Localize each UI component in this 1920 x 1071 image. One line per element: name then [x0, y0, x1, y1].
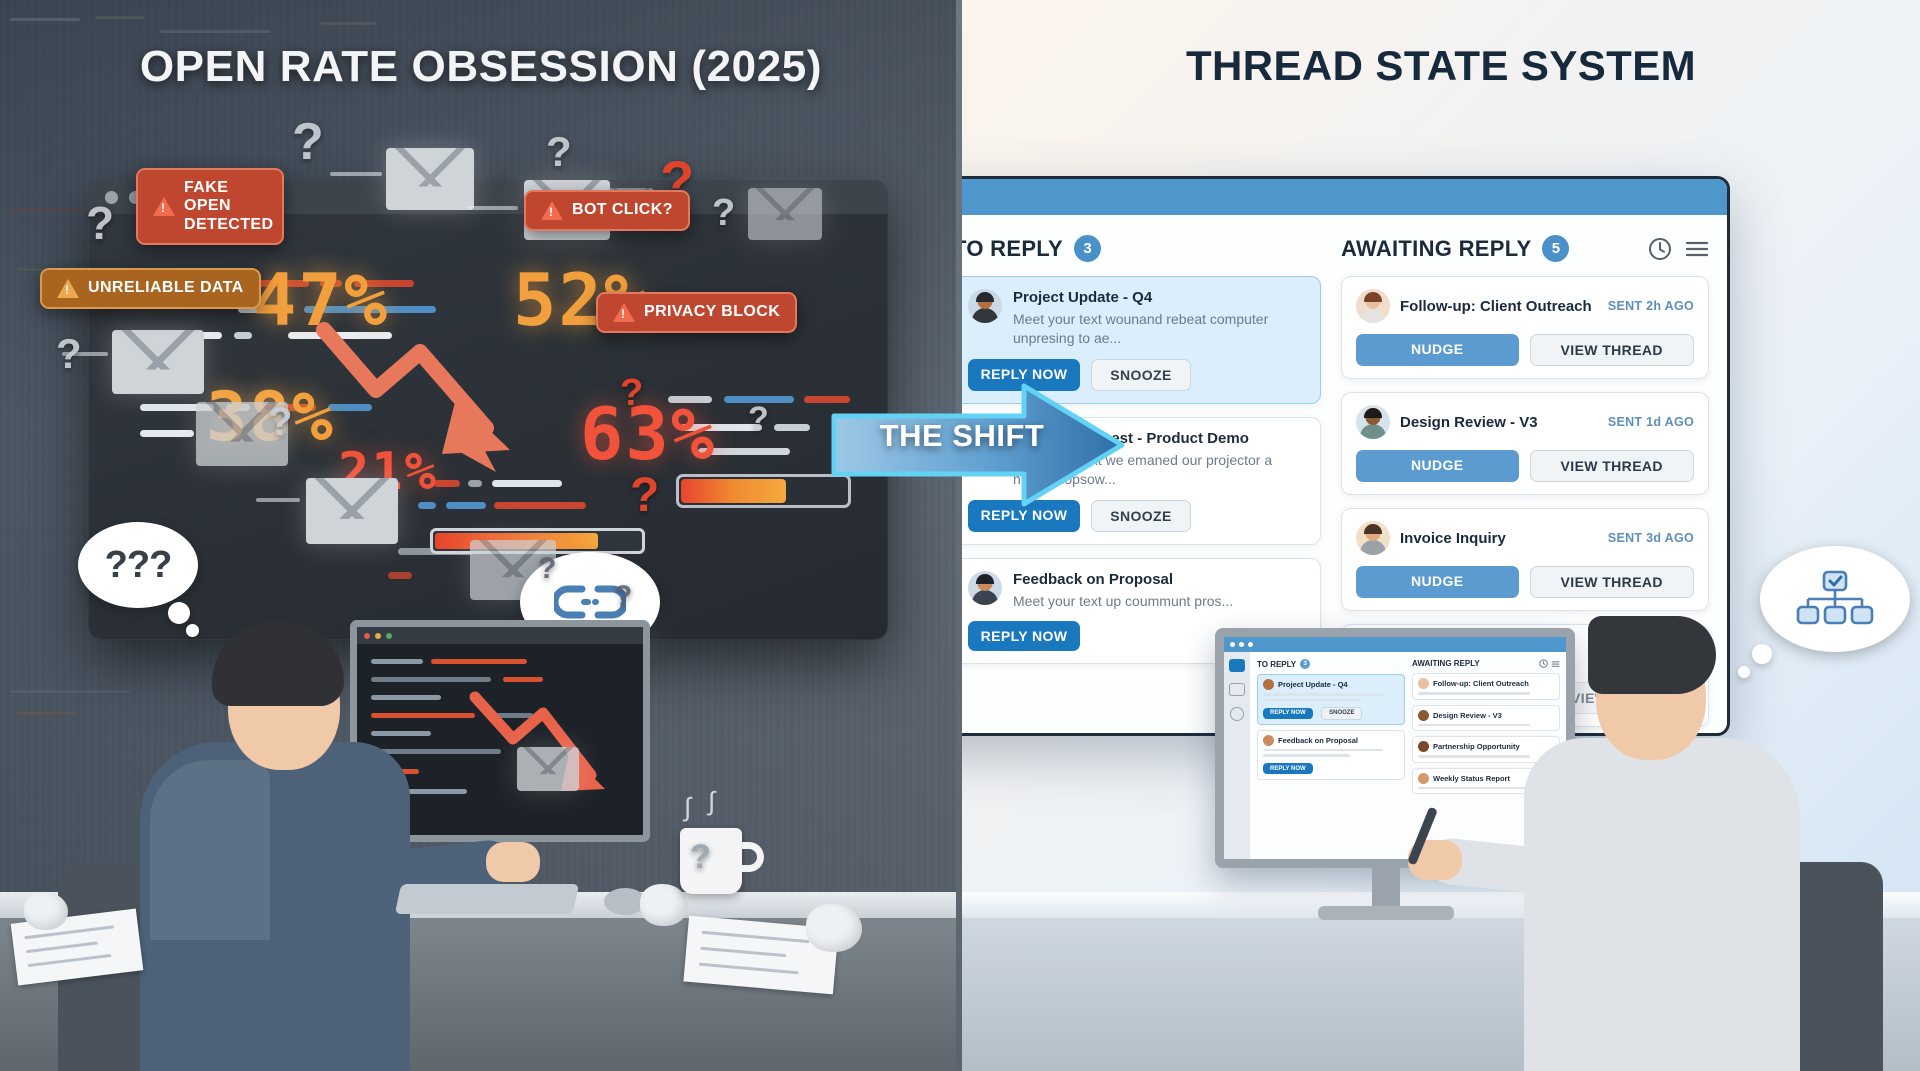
reply-now-button[interactable]: REPLY NOW — [968, 621, 1080, 651]
avatar — [968, 289, 1002, 323]
snooze-button[interactable]: SNOOZE — [1321, 707, 1362, 720]
awaiting-reply-card[interactable]: Follow-up: Client Outreach SENT 2h AGO N… — [1341, 276, 1709, 379]
left-panel: OPEN RATE OBSESSION (2025) — [0, 0, 962, 1071]
left-person-hood — [150, 760, 270, 940]
code-streak — [160, 30, 270, 33]
badge-bot-click: BOT CLICK? — [524, 190, 690, 231]
question-mark: ? — [292, 112, 324, 172]
steam-icon: ∫ — [708, 786, 715, 817]
thought-bubble-tail — [1752, 644, 1772, 664]
confusion-thought-bubble: ??? — [78, 522, 198, 608]
avatar — [1263, 735, 1274, 746]
hamburger-menu-icon[interactable] — [1685, 239, 1709, 259]
question-mark: ? — [620, 372, 643, 415]
card-title: Project Update - Q4 — [1278, 680, 1348, 689]
monitor-header-actions — [1539, 659, 1560, 668]
snippet-line — [1418, 724, 1530, 727]
snippet-line — [1418, 787, 1530, 790]
view-thread-button[interactable]: VIEW THREAD — [1530, 566, 1695, 598]
nudge-button[interactable]: NUDGE — [1356, 566, 1519, 598]
question-mark: ? — [268, 400, 292, 445]
chat-bubble-icon[interactable] — [1229, 683, 1245, 696]
avatar — [1418, 678, 1429, 689]
monitor-columns: TO REPLY 3 Project Update - Q4 REPLY NOW… — [1250, 652, 1566, 859]
right-desk-monitor: TO REPLY 3 Project Update - Q4 REPLY NOW… — [1215, 628, 1575, 868]
badge-unreliable-data: UNRELIABLE DATA — [40, 268, 261, 309]
paper-line — [699, 963, 799, 975]
awaiting-reply-card[interactable]: Invoice Inquiry SENT 3d AGO NUDGE VIEW T… — [1341, 508, 1709, 611]
monitor-sidebar — [1224, 652, 1250, 859]
avatar — [1356, 405, 1390, 439]
question-mark: ? — [546, 128, 572, 176]
steam-icon: ∫ — [684, 792, 691, 823]
monitor-awaiting-title: AWAITING REPLY — [1412, 659, 1480, 668]
code-streak — [10, 690, 130, 693]
card-actions: NUDGE VIEW THREAD — [1356, 450, 1694, 482]
question-mark: ? — [712, 192, 735, 235]
monitor-to-reply-card[interactable]: Feedback on Proposal REPLY NOW — [1257, 730, 1405, 780]
nudge-button[interactable]: NUDGE — [1356, 450, 1519, 482]
gear-icon[interactable] — [1230, 707, 1244, 721]
mail-icon[interactable] — [1229, 659, 1245, 672]
avatar — [1418, 710, 1429, 721]
card-top: Feedback on Proposal Meet your text up c… — [968, 571, 1306, 611]
paper-line — [26, 941, 98, 953]
sent-time: SENT 2h AGO — [1608, 299, 1694, 313]
question-mark: ? — [630, 468, 659, 523]
avatar — [1418, 741, 1429, 752]
code-line — [371, 713, 475, 718]
badge-label: PRIVACY BLOCK — [644, 303, 780, 321]
avatar — [1356, 521, 1390, 555]
motion-streak — [468, 206, 518, 210]
monitor-awaiting-header: AWAITING REPLY — [1412, 659, 1560, 668]
card-top: Design Review - V3 SENT 1d AGO — [1356, 405, 1694, 439]
card-top: Follow-up: Client Outreach SENT 2h AGO — [1356, 289, 1694, 323]
snippet-line — [1418, 755, 1530, 758]
snippet-line — [1263, 693, 1383, 696]
window-dot[interactable] — [1230, 642, 1235, 647]
thought-bubble-text: ??? — [105, 544, 172, 587]
workflow-thought-bubble — [1760, 546, 1910, 652]
monitor-base — [1318, 906, 1454, 920]
view-thread-button[interactable]: VIEW THREAD — [1530, 334, 1695, 366]
data-bar — [388, 572, 412, 579]
thought-bubble-tail — [1738, 666, 1750, 678]
card-snippet: Meet your text up coummunt pros... — [1013, 592, 1233, 611]
sent-time: SENT 3d AGO — [1608, 531, 1694, 545]
thought-bubble-tail — [168, 602, 190, 624]
question-mark: ? — [56, 330, 82, 378]
data-bar — [774, 424, 810, 431]
question-mark: ? — [748, 400, 769, 439]
warning-triangle-icon — [613, 303, 635, 322]
question-mark: ? — [538, 552, 556, 586]
monitor-to-reply-title: TO REPLY — [1257, 660, 1296, 669]
question-mark: ? — [614, 580, 632, 614]
avatar-body — [972, 590, 998, 605]
code-streak — [16, 712, 76, 715]
card-top: Partnership Opportunity — [1418, 741, 1554, 752]
card-top: Feedback on Proposal — [1263, 735, 1399, 746]
card-title: Partnership Opportunity — [1433, 742, 1520, 751]
email-envelope-icon — [306, 478, 398, 544]
card-snippet: Meet your text wounand rebeat computer u… — [1013, 310, 1306, 348]
badge-fake-open-detected: FAKE OPEN DETECTED — [136, 168, 284, 245]
monitor-awaiting-card[interactable]: Design Review - V3 — [1412, 705, 1560, 732]
monitor-column-to-reply: TO REPLY 3 Project Update - Q4 REPLY NOW… — [1257, 659, 1405, 859]
awaiting-reply-count-badge: 5 — [1542, 235, 1569, 262]
card-top: Project Update - Q4 Meet your text wouna… — [968, 289, 1306, 348]
avatar-body — [1360, 424, 1386, 439]
avatar-hair — [1364, 292, 1382, 302]
avatar — [1263, 679, 1274, 690]
motion-streak — [330, 172, 382, 176]
card-title: Design Review - V3 — [1400, 414, 1538, 431]
card-top: Invoice Inquiry SENT 3d AGO — [1356, 521, 1694, 555]
crumpled-paper — [640, 884, 688, 926]
card-title: Project Update - Q4 — [1013, 289, 1306, 306]
clock-icon[interactable] — [1539, 659, 1548, 668]
window-dot[interactable] — [364, 633, 370, 639]
avatar-body — [1360, 540, 1386, 555]
to-reply-count-badge: 3 — [1074, 235, 1101, 262]
snippet-line — [1418, 692, 1530, 695]
email-envelope-icon — [386, 148, 474, 210]
paper-line — [28, 954, 112, 967]
hamburger-menu-icon[interactable] — [1551, 660, 1560, 668]
monitor-to-reply-card[interactable]: Project Update - Q4 REPLY NOW SNOOZE — [1257, 674, 1405, 725]
code-line — [371, 695, 441, 700]
paper-line — [702, 931, 810, 943]
code-streak — [320, 22, 376, 25]
card-title: Feedback on Proposal — [1013, 571, 1233, 588]
card-title: Follow-up: Client Outreach — [1400, 298, 1592, 315]
thought-bubble-tail — [186, 624, 199, 637]
email-envelope-icon — [748, 188, 822, 240]
email-envelope-icon — [517, 747, 579, 791]
right-panel-title: THREAD STATE SYSTEM — [962, 42, 1920, 90]
illustration-canvas: OPEN RATE OBSESSION (2025) — [0, 0, 1920, 1071]
card-title: Design Review - V3 — [1433, 711, 1502, 720]
window-dot[interactable] — [1239, 642, 1244, 647]
app-titlebar — [962, 179, 1727, 215]
avatar-hair — [1364, 524, 1382, 534]
avatar — [1356, 289, 1390, 323]
question-mark: ? — [690, 838, 711, 877]
right-person-hair — [1588, 616, 1716, 694]
code-line — [503, 677, 543, 682]
monitor-titlebar — [357, 627, 643, 644]
card-title: Feedback on Proposal — [1278, 736, 1358, 745]
avatar-body — [972, 308, 998, 323]
card-top: Design Review - V3 — [1418, 710, 1554, 721]
card-title: Weekly Status Report — [1433, 774, 1510, 783]
clock-icon[interactable] — [1648, 237, 1672, 261]
data-bar — [234, 332, 252, 339]
monitor-to-reply-count: 3 — [1300, 659, 1310, 669]
avatar — [968, 571, 1002, 605]
snippet-line — [1263, 749, 1383, 752]
monitor-app-body: TO REPLY 3 Project Update - Q4 REPLY NOW… — [1224, 652, 1566, 859]
window-dot[interactable] — [375, 633, 381, 639]
crumpled-paper — [806, 904, 862, 952]
warning-triangle-icon — [153, 197, 175, 216]
keyboard[interactable] — [395, 884, 579, 914]
code-line — [371, 677, 491, 682]
reply-now-button[interactable]: REPLY NOW — [1263, 708, 1313, 719]
right-person-body — [1524, 738, 1800, 1071]
card-actions: NUDGE VIEW THREAD — [1356, 566, 1694, 598]
avatar-hair — [1364, 408, 1382, 418]
badge-label: FAKE OPEN DETECTED — [184, 179, 273, 234]
avatar-body — [1360, 308, 1386, 323]
the-shift-label: THE SHIFT — [862, 418, 1062, 454]
monitor-to-reply-header: TO REPLY 3 — [1257, 659, 1405, 669]
header-actions — [1648, 237, 1709, 261]
code-line — [431, 659, 527, 664]
card-title: Invoice Inquiry — [1400, 530, 1506, 547]
awaiting-reply-header: AWAITING REPLY 5 — [1341, 235, 1709, 262]
code-streak — [96, 16, 144, 19]
window-dot[interactable] — [1248, 642, 1253, 647]
email-envelope-icon — [112, 330, 204, 394]
battery-indicator — [676, 474, 851, 508]
warning-triangle-icon — [541, 201, 563, 220]
code-line — [371, 659, 423, 664]
card-actions: NUDGE VIEW THREAD — [1356, 334, 1694, 366]
view-thread-button[interactable]: VIEW THREAD — [1530, 450, 1695, 482]
motion-streak — [256, 498, 300, 502]
code-line — [371, 731, 431, 736]
card-title: Follow-up: Client Outreach — [1433, 679, 1529, 688]
paper-line — [700, 947, 786, 957]
crumpled-paper — [24, 892, 68, 930]
question-mark: ? — [86, 196, 114, 250]
awaiting-reply-card[interactable]: Design Review - V3 SENT 1d AGO NUDGE VIE… — [1341, 392, 1709, 495]
battery-fill — [681, 479, 786, 503]
badge-privacy-block: PRIVACY BLOCK — [596, 292, 797, 333]
nudge-button[interactable]: NUDGE — [1356, 334, 1519, 366]
badge-label: UNRELIABLE DATA — [88, 279, 244, 297]
monitor-titlebar — [1224, 637, 1566, 652]
avatar-hair — [976, 292, 994, 302]
window-dot[interactable] — [386, 633, 392, 639]
monitor-awaiting-card[interactable]: Follow-up: Client Outreach — [1412, 673, 1560, 700]
code-streak — [10, 18, 80, 21]
workflow-check-icon — [1794, 570, 1876, 628]
sent-time: SENT 1d AGO — [1608, 415, 1694, 429]
left-person-hand — [486, 842, 540, 882]
avatar — [1418, 773, 1429, 784]
awaiting-reply-title: AWAITING REPLY — [1341, 236, 1531, 262]
reply-now-button[interactable]: REPLY NOW — [1263, 763, 1313, 774]
data-bar — [140, 430, 194, 437]
avatar-hair — [976, 574, 994, 584]
to-reply-title: TO REPLY — [962, 236, 1063, 262]
card-top: Project Update - Q4 — [1263, 679, 1399, 690]
warning-triangle-icon — [57, 279, 79, 298]
badge-label: BOT CLICK? — [572, 201, 673, 219]
to-reply-header: TO REPLY 3 — [962, 235, 1321, 262]
card-top: Follow-up: Client Outreach — [1418, 678, 1554, 689]
left-panel-title: OPEN RATE OBSESSION (2025) — [0, 42, 962, 92]
